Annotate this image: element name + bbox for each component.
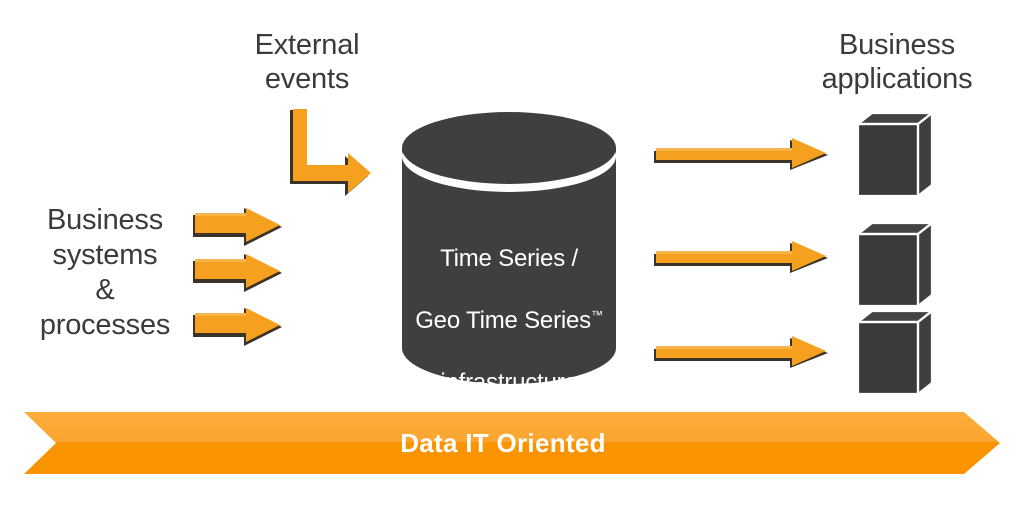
cylinder-line-2-text: Geo Time Series [415,307,591,334]
trademark-icon: ™ [591,308,603,322]
cylinder-line-5: Datalake [400,491,618,506]
datalake-cylinder: Time Series / Geo Time Series™ infrastru… [400,112,618,384]
cylinder-line-1: Time Series / [400,243,618,274]
external-events-elbow-arrow [288,108,378,198]
business-application-arrow-3 [652,336,830,368]
business-systems-label: Business systems & processes [20,203,190,343]
cylinder-line-3: infrastructure [400,367,618,398]
business-systems-arrow-2 [190,252,285,292]
business-application-arrow-1 [652,138,830,170]
diagram-canvas: External events Business systems & proce… [0,0,1024,506]
external-events-label: External events [222,28,392,96]
business-systems-arrow-1 [190,206,285,246]
banner-title: Data IT Oriented [24,412,1000,474]
business-application-box-1 [858,112,942,198]
cylinder-line-2: Geo Time Series™ [400,305,618,336]
business-application-arrow-2 [652,241,830,273]
business-application-box-2 [858,222,942,308]
business-systems-arrow-3 [190,306,285,346]
business-applications-label: Business applications [792,28,1002,96]
data-it-oriented-banner: Data IT Oriented [24,412,1000,474]
business-application-box-3 [858,310,942,396]
